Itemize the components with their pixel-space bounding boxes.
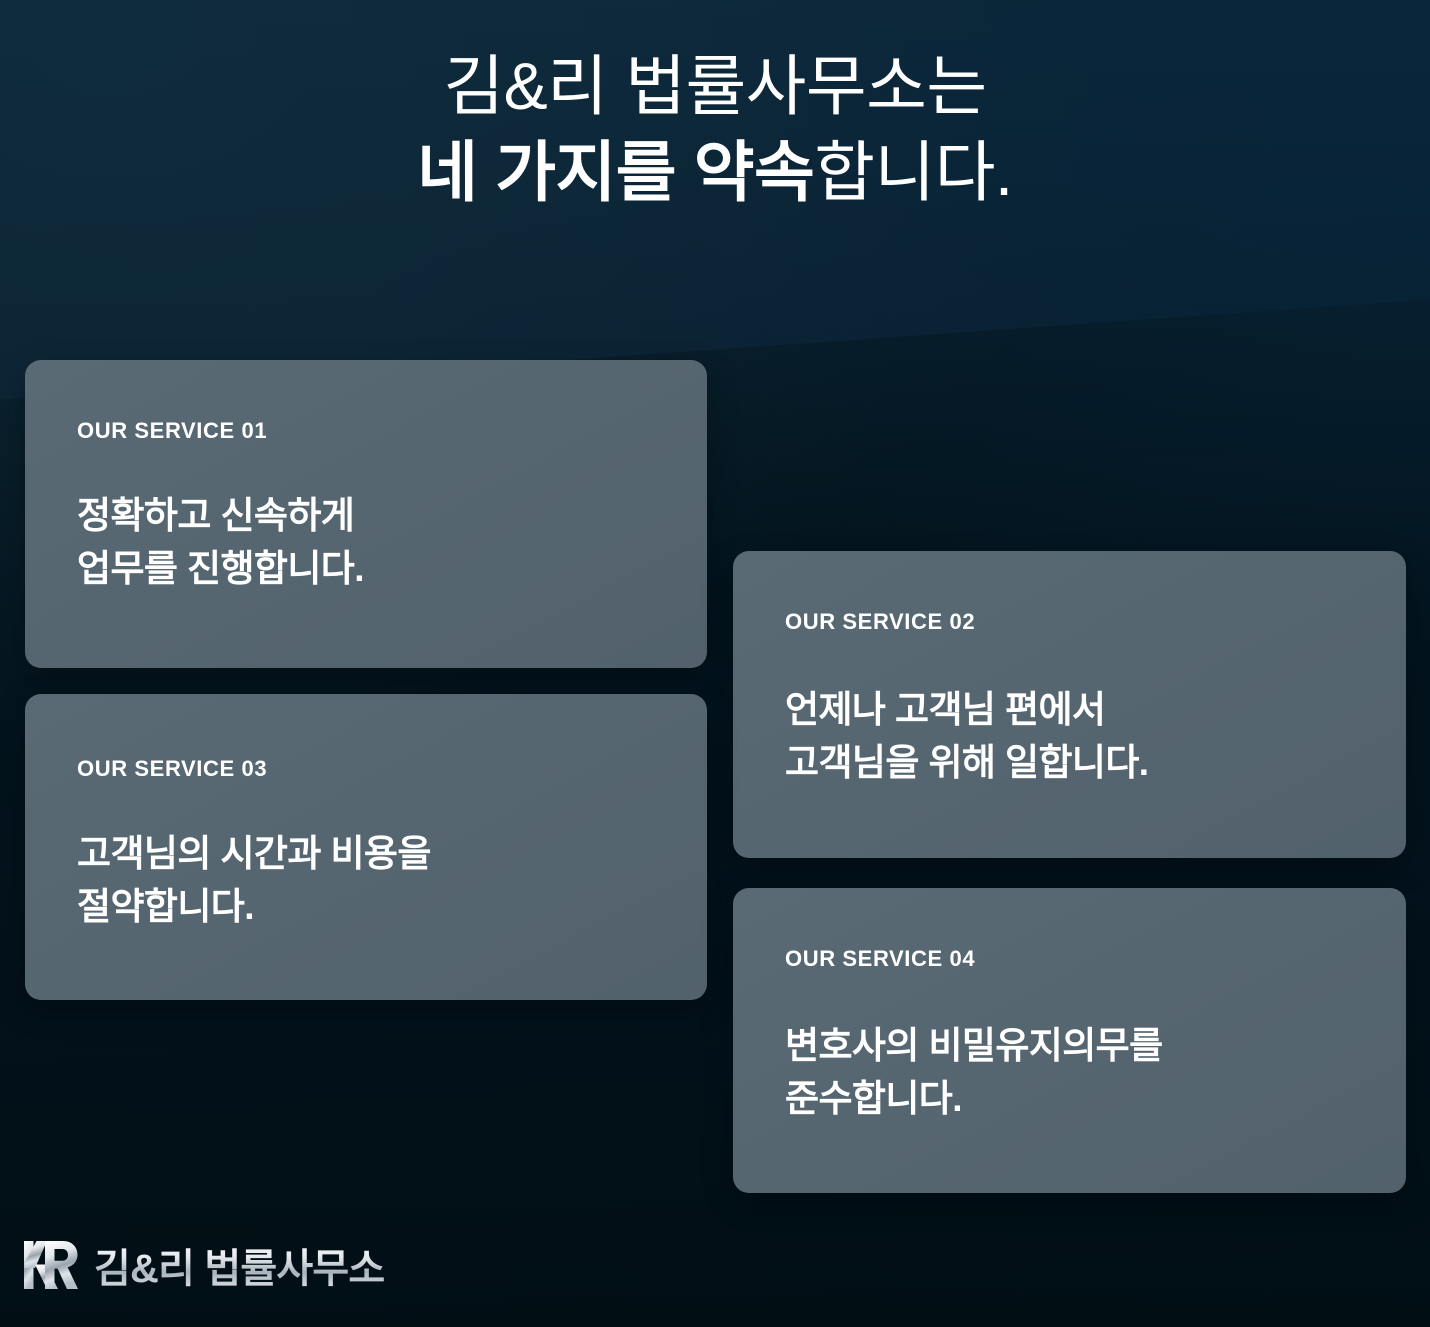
- service-card-2[interactable]: OUR SERVICE 02 언제나 고객님 편에서 고객님을 위해 일합니다.: [733, 551, 1406, 858]
- kr-monogram-icon: [22, 1239, 80, 1291]
- page-title-emphasis: 네 가지를 약속: [417, 135, 814, 209]
- service-card-3-body: 고객님의 시간과 비용을 절약합니다.: [77, 828, 431, 933]
- service-card-2-body: 언제나 고객님 편에서 고객님을 위해 일합니다.: [785, 684, 1148, 789]
- service-card-2-kicker: OUR SERVICE 02: [785, 609, 975, 635]
- service-card-4[interactable]: OUR SERVICE 04 변호사의 비밀유지의무를 준수합니다.: [733, 888, 1406, 1193]
- service-card-1-kicker: OUR SERVICE 01: [77, 418, 267, 444]
- service-card-1-body: 정확하고 신속하게 업무를 진행합니다.: [77, 490, 364, 595]
- service-card-3[interactable]: OUR SERVICE 03 고객님의 시간과 비용을 절약합니다.: [25, 694, 707, 1000]
- page-title: 김&리 법률사무소는 네 가지를 약속합니다.: [0, 44, 1430, 216]
- service-card-4-kicker: OUR SERVICE 04: [785, 946, 975, 972]
- service-card-4-body: 변호사의 비밀유지의무를 준수합니다.: [785, 1020, 1163, 1125]
- brand-logo[interactable]: 김&리 법률사무소: [22, 1236, 384, 1294]
- page-title-line-2-rest: 합니다.: [814, 135, 1013, 209]
- brand-wordmark: 김&리 법률사무소: [94, 1236, 384, 1294]
- service-card-1[interactable]: OUR SERVICE 01 정확하고 신속하게 업무를 진행합니다.: [25, 360, 707, 668]
- page-title-line-1: 김&리 법률사무소는: [0, 44, 1430, 130]
- service-card-3-kicker: OUR SERVICE 03: [77, 756, 267, 782]
- page-title-line-2: 네 가지를 약속합니다.: [0, 130, 1430, 216]
